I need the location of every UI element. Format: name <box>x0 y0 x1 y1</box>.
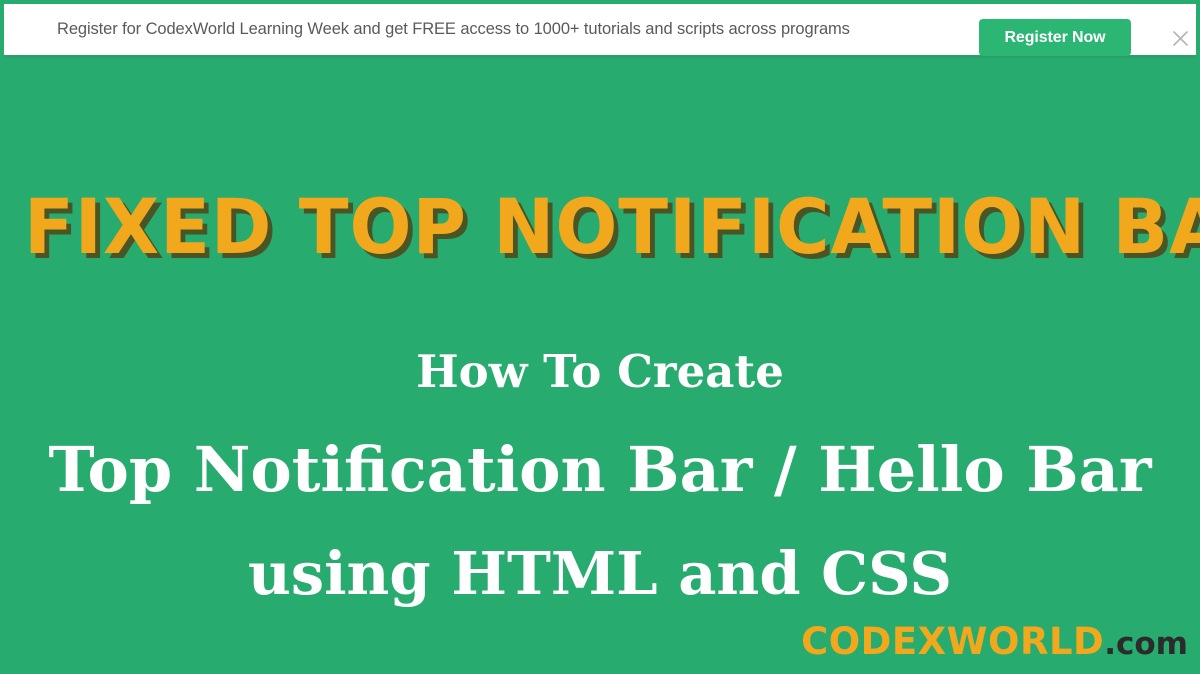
close-icon <box>1172 30 1189 47</box>
watermark-brand: CODEXWORLD <box>801 620 1104 663</box>
notification-message: Register for CodexWorld Learning Week an… <box>57 20 850 39</box>
page-title: FIXED TOP NOTIFICATION BAR <box>24 189 1176 265</box>
register-now-button[interactable]: Register Now <box>979 19 1131 56</box>
hero-section: FIXED TOP NOTIFICATION BAR How To Create… <box>0 57 1200 674</box>
hero-subtitle-line-1: How To Create <box>0 349 1200 394</box>
page-root: FIXED TOP NOTIFICATION BAR How To Create… <box>0 0 1200 674</box>
watermark-tld: .com <box>1104 626 1188 662</box>
hero-subtitle-line-3: using HTML and CSS <box>0 544 1200 603</box>
close-notification-button[interactable] <box>1162 20 1198 56</box>
hero-subtitle-line-2: Top Notification Bar / Hello Bar <box>0 439 1200 501</box>
top-notification-bar: Register for CodexWorld Learning Week an… <box>4 4 1196 58</box>
watermark: CODEXWORLD.com <box>801 623 1188 660</box>
